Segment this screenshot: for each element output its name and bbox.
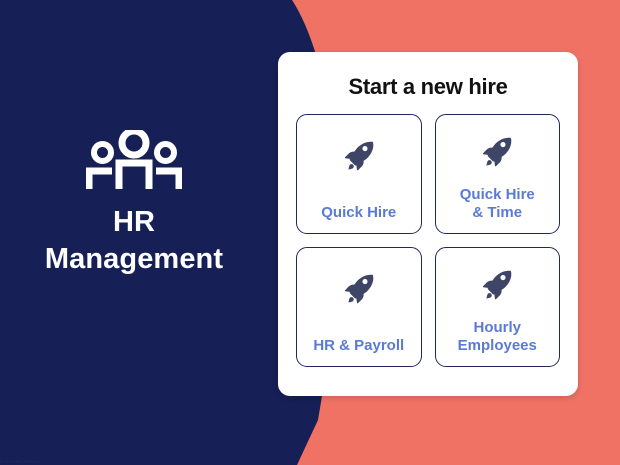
tile-label: HR & Payroll [297,337,421,354]
tile-label: Quick Hire & Time [436,186,560,221]
brand-title: HR Management [0,204,268,277]
bottom-caption-strip: ·· ······· ···· ·· [0,460,270,465]
rocket-icon [340,270,378,308]
tile-label: Quick Hire [297,204,421,221]
slide-canvas: HR Management Start a new hire Quick Hir… [0,0,620,465]
tile-label: Hourly Employees [436,319,560,354]
hire-options-grid: Quick Hire Quick Hire & Time HR & Payrol… [296,114,560,367]
brand-block: HR Management [0,130,268,277]
rocket-icon [340,137,378,175]
card-title: Start a new hire [296,74,560,100]
rocket-icon [478,266,516,304]
rocket-icon [478,133,516,171]
tile-hr-and-payroll[interactable]: HR & Payroll [296,247,422,367]
people-group-icon [86,130,182,192]
tile-quick-hire-and-time[interactable]: Quick Hire & Time [435,114,561,234]
tile-hourly-employees[interactable]: Hourly Employees [435,247,561,367]
start-new-hire-card: Start a new hire Quick Hire Quick Hire &… [278,52,578,396]
tile-quick-hire[interactable]: Quick Hire [296,114,422,234]
